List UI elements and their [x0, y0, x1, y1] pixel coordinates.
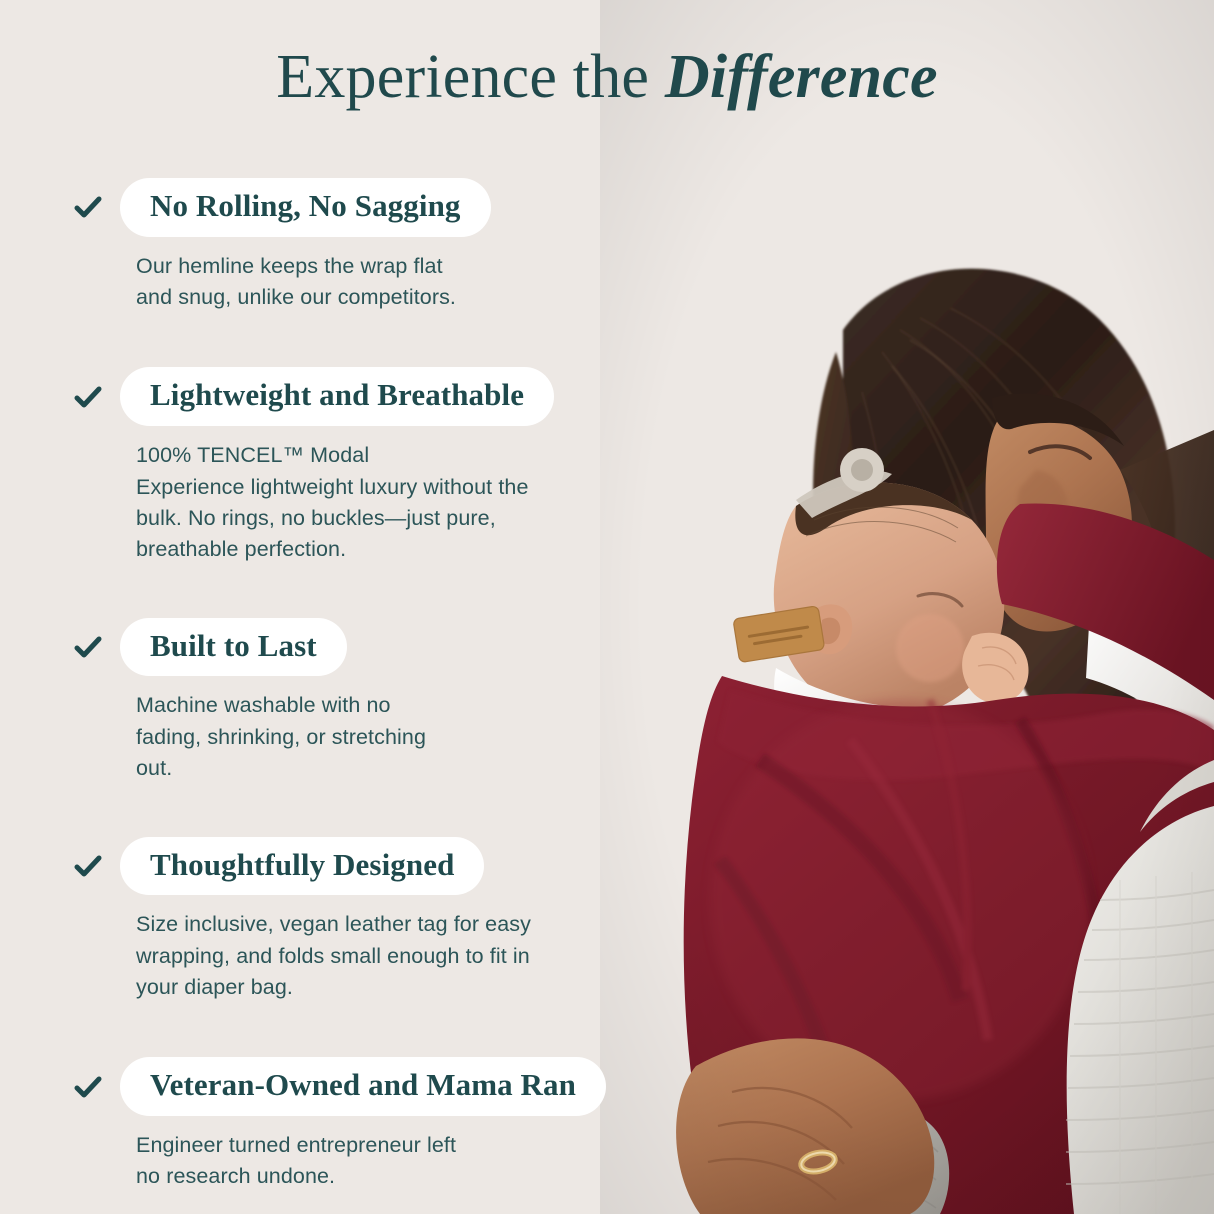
feature-item: Lightweight and Breathable 100% TENCEL™ … [72, 367, 672, 565]
feature-header: Thoughtfully Designed [72, 837, 672, 896]
feature-list: No Rolling, No Sagging Our hemline keeps… [72, 178, 672, 1193]
feature-description: Size inclusive, vegan leather tag for ea… [136, 909, 672, 1003]
check-icon [72, 381, 104, 413]
check-icon [72, 631, 104, 663]
feature-title-pill: Lightweight and Breathable [120, 367, 554, 426]
feature-description: 100% TENCEL™ Modal Experience lightweigh… [136, 440, 672, 566]
page-title-accent: Difference [665, 43, 938, 111]
feature-item: Veteran-Owned and Mama Ran Engineer turn… [72, 1057, 672, 1192]
promo-graphic: Experience the Difference No Rolling, No… [0, 0, 1214, 1214]
feature-header: Built to Last [72, 618, 672, 677]
page-title-regular: Experience the [276, 43, 665, 111]
feature-item: Built to Last Machine washable with no f… [72, 618, 672, 785]
feature-title-pill: No Rolling, No Sagging [120, 178, 491, 237]
feature-title-pill: Thoughtfully Designed [120, 837, 484, 896]
feature-title-pill: Veteran-Owned and Mama Ran [120, 1057, 606, 1116]
feature-header: No Rolling, No Sagging [72, 178, 672, 237]
check-icon [72, 850, 104, 882]
feature-description: Our hemline keeps the wrap flat and snug… [136, 251, 672, 314]
feature-item: No Rolling, No Sagging Our hemline keeps… [72, 178, 672, 313]
check-icon [72, 191, 104, 223]
product-lifestyle-photo [600, 0, 1214, 1214]
feature-header: Lightweight and Breathable [72, 367, 672, 426]
check-icon [72, 1071, 104, 1103]
feature-description: Engineer turned entrepreneur left no res… [136, 1130, 672, 1193]
feature-header: Veteran-Owned and Mama Ran [72, 1057, 672, 1116]
feature-description: Machine washable with no fading, shrinki… [136, 690, 672, 784]
feature-item: Thoughtfully Designed Size inclusive, ve… [72, 837, 672, 1004]
page-title: Experience the Difference [0, 44, 1214, 111]
feature-title-pill: Built to Last [120, 618, 347, 677]
